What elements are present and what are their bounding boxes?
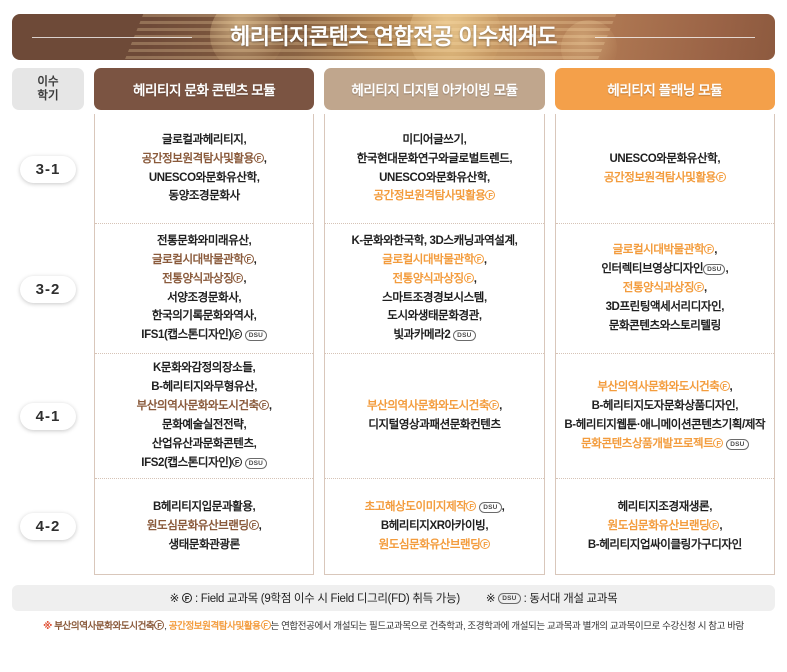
module-body-3: UNESCO와문화유산학,공간정보원격탐사및활용F글로컬시대박물관학F,인터렉티…	[555, 114, 775, 575]
course-name: UNESCO와문화유산학,	[609, 153, 720, 165]
course-name: ,	[704, 282, 707, 294]
footnote-rest: 는 연합전공에서 개설되는 필드교과목으로 건축학과, 조경학과에 개설되는 교…	[271, 621, 744, 632]
course-name: B-헤리티지도자문화상품디자인,	[592, 400, 738, 412]
course-name: ,	[499, 400, 502, 412]
footnote-field-mark-2: F	[261, 620, 271, 630]
course-name: 전통문화와미래유산,	[157, 235, 251, 247]
course-line: 초고해상도이미지제작F DSU,	[365, 498, 505, 517]
course-line: 공간정보원격탐사및활용F	[357, 187, 513, 206]
course-name: 문화콘텐츠상품개발프로젝트	[581, 438, 713, 450]
course-name: B헤리티지XR아카이빙,	[381, 520, 488, 532]
legend-field-star: ※	[170, 591, 179, 605]
course-line: B-헤리티지와무형유산,	[137, 378, 272, 397]
semester-column: 이수 학기 3-13-24-14-2	[12, 68, 84, 574]
course-name: 글로컬시대박물관학	[382, 254, 474, 266]
course-name: 원도심문화유산브랜딩	[147, 520, 249, 532]
course-line: 헤리티지조경재생론,	[588, 498, 742, 517]
semester-column-header: 이수 학기	[12, 68, 84, 110]
course-cell: 글로컬시대박물관학F,인터렉티브영상디자인DSU,전통양식과상징F,3D프린팅액…	[556, 224, 774, 354]
course-line: B-헤리티지도자문화상품디자인,	[564, 397, 765, 416]
course-cell: B헤리티지입문과활용,원도심문화유산브랜딩F,생태문화관광론	[95, 479, 313, 574]
course-line: 글로컬과헤리티지,	[142, 131, 267, 150]
footnote-star: ※	[43, 621, 52, 632]
course-name: B-헤리티지와무형유산,	[151, 381, 257, 393]
course-name: 인터렉티브영상디자인	[601, 263, 703, 275]
field-mark-icon: F	[480, 539, 490, 549]
course-line: B헤리티지XR아카이빙,	[365, 517, 505, 536]
module-column-2: 헤리티지 디지털 아카이빙 모듈 미디어글쓰기,한국현대문화연구와글로벌트렌드,…	[324, 68, 544, 575]
course-line: 원도심문화유산브랜딩F	[365, 536, 505, 555]
course-line: 서양조경문화사,	[141, 289, 267, 308]
course-name: 산업유산과문화콘텐츠,	[152, 438, 257, 450]
course-name: ,	[264, 153, 267, 165]
course-line: 글로컬시대박물관학F,	[601, 241, 728, 260]
course-name: UNESCO와문화유산학,	[149, 172, 260, 184]
course-line: 동양조경문화사	[142, 187, 267, 206]
course-line: K-문화와한국학, 3D스캐닝과역설계,	[352, 232, 518, 251]
course-line: 글로컬시대박물관학F,	[352, 251, 518, 270]
course-name: 생태문화관광론	[169, 539, 240, 551]
semester-badge: 3-2	[20, 276, 77, 303]
course-line: 원도심문화유산브랜딩F,	[588, 517, 742, 536]
field-mark-icon: F	[233, 273, 243, 283]
course-cell: 글로컬과헤리티지,공간정보원격탐사및활용F,UNESCO와문화유산학,동양조경문…	[95, 114, 313, 224]
field-mark-icon: F	[489, 400, 499, 410]
course-line: UNESCO와문화유산학,	[142, 169, 267, 188]
footnote-field-mark-1: F	[154, 620, 164, 630]
course-name: 문화예술실전전략,	[162, 419, 246, 431]
semester-badge: 4-1	[20, 403, 77, 430]
course-line: B-헤리티지웹툰·애니메이션콘텐츠기획/제작	[564, 416, 765, 435]
course-name: 동양조경문화사	[169, 190, 240, 202]
course-line: B헤리티지입문과활용,	[147, 498, 262, 517]
semester-header-line1: 이수	[37, 75, 58, 89]
field-mark-icon: F	[485, 190, 495, 200]
course-line: 전통문화와미래유산,	[141, 232, 267, 251]
field-mark-icon: F	[244, 254, 254, 264]
module-column-3: 헤리티지 플래닝 모듈 UNESCO와문화유산학,공간정보원격탐사및활용F글로컬…	[555, 68, 775, 575]
field-mark-icon: F	[232, 457, 242, 467]
course-name: B헤리티지입문과활용,	[153, 501, 255, 513]
field-mark-icon: F	[474, 254, 484, 264]
semester-badge: 4-2	[20, 513, 77, 540]
course-name: 부산의역사문화와도시건축	[367, 400, 489, 412]
footnote: ※ 부산의역사문화와도시건축F, 공간정보원격탐사및활용F는 연합전공에서 개설…	[10, 620, 777, 633]
course-name: B-헤리티지웹툰·애니메이션콘텐츠기획/제작	[564, 419, 765, 431]
course-name: K문화와감정의장소들,	[153, 362, 255, 374]
course-cell: 부산의역사문화와도시건축F,디지털영상과패션문화컨텐츠	[325, 354, 543, 479]
course-name: IFS2(캡스톤디자인)	[141, 457, 232, 469]
course-line: 미디어글쓰기,	[357, 131, 513, 150]
course-list: 헤리티지조경재생론,원도심문화유산브랜딩F,B-헤리티지업싸이클링가구디자인	[588, 498, 742, 555]
course-name: 도시와생태문화경관,	[387, 310, 481, 322]
field-mark-icon: F	[249, 520, 259, 530]
course-line: 3D프린팅액세서리디자인,	[601, 298, 728, 317]
course-line: IFS1(캡스톤디자인)F DSU	[141, 326, 267, 345]
course-line: 빛과카메라2 DSU	[352, 326, 518, 345]
field-mark-icon: F	[716, 172, 726, 182]
course-line: 글로컬시대박물관학F,	[141, 251, 267, 270]
course-name: K-문화와한국학, 3D스캐닝과역설계,	[352, 235, 518, 247]
course-line: 공간정보원격탐사및활용F	[604, 169, 726, 188]
course-name: 글로컬시대박물관학	[152, 254, 244, 266]
course-line: 원도심문화유산브랜딩F,	[147, 517, 262, 536]
semester-header-line2: 학기	[37, 89, 58, 103]
course-list: K문화와감정의장소들,B-헤리티지와무형유산,부산의역사문화와도시건축F,문화예…	[137, 359, 272, 473]
semester-cell: 4-1	[12, 354, 84, 479]
course-name: 원도심문화유산브랜딩	[379, 539, 481, 551]
course-line: B-헤리티지업싸이클링가구디자인	[588, 536, 742, 555]
course-list: 부산의역사문화와도시건축F,B-헤리티지도자문화상품디자인,B-헤리티지웹툰·애…	[564, 378, 765, 454]
footnote-course-1: 부산의역사문화와도시건축	[54, 621, 154, 632]
course-name: 문화콘텐츠와스토리텔링	[609, 320, 721, 332]
course-name: IFS1(캡스톤디자인)	[141, 329, 232, 341]
field-mark-icon: F	[694, 282, 704, 292]
course-name: ,	[474, 273, 477, 285]
banner: 헤리티지콘텐츠 연합전공 이수체계도	[12, 14, 775, 60]
module-body-1: 글로컬과헤리티지,공간정보원격탐사및활용F,UNESCO와문화유산학,동양조경문…	[94, 114, 314, 575]
module-column-1: 헤리티지 문화 콘텐츠 모듈 글로컬과헤리티지,공간정보원격탐사및활용F,UNE…	[94, 68, 314, 575]
course-name: 한국현대문화연구와글로벌트렌드,	[357, 153, 513, 165]
course-name: 전통양식과상징	[162, 273, 233, 285]
module-header-2: 헤리티지 디지털 아카이빙 모듈	[324, 68, 544, 110]
course-name: 서양조경문화사,	[167, 292, 241, 304]
course-line: 전통양식과상징F,	[352, 270, 518, 289]
course-line: IFS2(캡스톤디자인)F DSU	[137, 454, 272, 473]
course-line: 도시와생태문화경관,	[352, 307, 518, 326]
legend-dsu-text: : 동서대 개설 교과목	[524, 590, 618, 606]
course-name: ,	[484, 254, 487, 266]
course-line: 부산의역사문화와도시건축F,	[137, 397, 272, 416]
module-body-2: 미디어글쓰기,한국현대문화연구와글로벌트렌드,UNESCO와문화유산학,공간정보…	[324, 114, 544, 575]
course-line: 한국의기록문화와역사,	[141, 307, 267, 326]
field-mark-icon: F	[709, 520, 719, 530]
course-line: 공간정보원격탐사및활용F,	[142, 150, 267, 169]
course-line: 한국현대문화연구와글로벌트렌드,	[357, 150, 513, 169]
course-line: UNESCO와문화유산학,	[604, 150, 726, 169]
course-name: ,	[502, 501, 505, 513]
course-line: 문화콘텐츠와스토리텔링	[601, 317, 728, 336]
course-name: ,	[243, 273, 246, 285]
course-name: 부산의역사문화와도시건축	[137, 400, 259, 412]
field-mark-icon: F	[254, 153, 264, 163]
course-line: 전통양식과상징F,	[141, 270, 267, 289]
course-name: 헤리티지조경재생론,	[618, 501, 712, 513]
course-cell: 부산의역사문화와도시건축F,B-헤리티지도자문화상품디자인,B-헤리티지웹툰·애…	[556, 354, 774, 479]
footnote-course-2: 공간정보원격탐사및활용	[169, 621, 261, 632]
course-list: 미디어글쓰기,한국현대문화연구와글로벌트렌드,UNESCO와문화유산학,공간정보…	[357, 131, 513, 207]
dsu-badge-icon: DSU	[498, 593, 520, 604]
course-line: 부산의역사문화와도시건축F,	[367, 397, 502, 416]
course-list: UNESCO와문화유산학,공간정보원격탐사및활용F	[604, 150, 726, 188]
course-cell: 초고해상도이미지제작F DSU,B헤리티지XR아카이빙,원도심문화유산브랜딩F	[325, 479, 543, 574]
field-mark-icon: F	[464, 273, 474, 283]
field-mark-icon: F	[182, 593, 192, 603]
course-name: ,	[719, 520, 722, 532]
legend-bar: ※ F : Field 교과목 (9학점 이수 시 Field 디그리(FD) …	[12, 585, 775, 611]
course-line: 인터렉티브영상디자인DSU,	[601, 260, 728, 279]
semester-cell: 4-2	[12, 479, 84, 574]
semester-cell: 3-1	[12, 114, 84, 224]
course-line: 스마트조경경보시스템,	[352, 289, 518, 308]
course-name: 미디어글쓰기,	[403, 134, 467, 146]
course-name: ,	[730, 381, 733, 393]
course-list: K-문화와한국학, 3D스캐닝과역설계,글로컬시대박물관학F,전통양식과상징F,…	[352, 232, 518, 346]
course-cell: UNESCO와문화유산학,공간정보원격탐사및활용F	[556, 114, 774, 224]
dsu-badge-icon: DSU	[245, 330, 267, 341]
course-name: ,	[725, 263, 728, 275]
module-header-3: 헤리티지 플래닝 모듈	[555, 68, 775, 110]
course-name: ,	[259, 520, 262, 532]
course-line: 부산의역사문화와도시건축F,	[564, 378, 765, 397]
course-name: B-헤리티지업싸이클링가구디자인	[588, 539, 742, 551]
course-name: 한국의기록문화와역사,	[152, 310, 257, 322]
course-list: 초고해상도이미지제작F DSU,B헤리티지XR아카이빙,원도심문화유산브랜딩F	[365, 498, 505, 555]
course-name: 전통양식과상징	[623, 282, 694, 294]
legend-dsu-star: ※	[486, 591, 495, 605]
curriculum-grid: 이수 학기 3-13-24-14-2 헤리티지 문화 콘텐츠 모듈 글로컬과헤리…	[12, 68, 775, 575]
course-line: 문화콘텐츠상품개발프로젝트F DSU	[564, 435, 765, 454]
course-cell: K-문화와한국학, 3D스캐닝과역설계,글로컬시대박물관학F,전통양식과상징F,…	[325, 224, 543, 354]
module-header-1: 헤리티지 문화 콘텐츠 모듈	[94, 68, 314, 110]
course-name: ,	[269, 400, 272, 412]
course-name: 원도심문화유산브랜딩	[608, 520, 710, 532]
field-mark-icon: F	[713, 438, 723, 448]
dsu-badge-icon: DSU	[703, 264, 725, 275]
dsu-badge-icon: DSU	[479, 502, 501, 513]
course-name: 3D프린팅액세서리디자인,	[606, 301, 725, 313]
semester-badge: 3-1	[20, 156, 77, 183]
course-name: 공간정보원격탐사및활용	[142, 153, 254, 165]
course-line: 문화예술실전전략,	[137, 416, 272, 435]
dsu-badge-icon: DSU	[726, 439, 748, 450]
legend-field-item: ※ F : Field 교과목 (9학점 이수 시 Field 디그리(FD) …	[170, 590, 460, 606]
course-name: 부산의역사문화와도시건축	[597, 381, 719, 393]
course-line: 디지털영상과패션문화컨텐츠	[367, 416, 502, 435]
field-mark-icon: F	[259, 400, 269, 410]
course-name: 글로컬과헤리티지,	[162, 134, 246, 146]
legend-dsu-item: ※ DSU : 동서대 개설 교과목	[486, 590, 618, 606]
course-line: UNESCO와문화유산학,	[357, 169, 513, 188]
field-mark-icon: F	[720, 381, 730, 391]
page-title: 헤리티지콘텐츠 연합전공 이수체계도	[12, 14, 775, 60]
course-name: 디지털영상과패션문화컨텐츠	[368, 419, 500, 431]
course-name: 공간정보원격탐사및활용	[373, 190, 485, 202]
banner-background: 헤리티지콘텐츠 연합전공 이수체계도	[12, 14, 775, 60]
dsu-badge-icon: DSU	[453, 330, 475, 341]
course-list: 글로컬시대박물관학F,인터렉티브영상디자인DSU,전통양식과상징F,3D프린팅액…	[601, 241, 728, 336]
course-name: 전통양식과상징	[392, 273, 463, 285]
field-mark-icon: F	[704, 244, 714, 254]
course-cell: K문화와감정의장소들,B-헤리티지와무형유산,부산의역사문화와도시건축F,문화예…	[95, 354, 313, 479]
course-name: 스마트조경경보시스템,	[382, 292, 487, 304]
course-name: 공간정보원격탐사및활용	[604, 172, 716, 184]
course-name: 글로컬시대박물관학	[613, 244, 705, 256]
course-cell: 전통문화와미래유산,글로컬시대박물관학F,전통양식과상징F,서양조경문화사,한국…	[95, 224, 313, 354]
course-list: 부산의역사문화와도시건축F,디지털영상과패션문화컨텐츠	[367, 397, 502, 435]
course-line: K문화와감정의장소들,	[137, 359, 272, 378]
field-mark-icon: F	[232, 329, 242, 339]
course-name: UNESCO와문화유산학,	[379, 172, 490, 184]
legend-field-text: : Field 교과목 (9학점 이수 시 Field 디그리(FD) 취득 가…	[195, 590, 460, 606]
course-name: ,	[714, 244, 717, 256]
course-list: 글로컬과헤리티지,공간정보원격탐사및활용F,UNESCO와문화유산학,동양조경문…	[142, 131, 267, 207]
course-name: 초고해상도이미지제작	[365, 501, 467, 513]
course-name: 빛과카메라2	[393, 329, 453, 341]
course-line: 산업유산과문화콘텐츠,	[137, 435, 272, 454]
dsu-badge-icon: DSU	[245, 458, 267, 469]
field-mark-icon: F	[466, 501, 476, 511]
course-cell: 헤리티지조경재생론,원도심문화유산브랜딩F,B-헤리티지업싸이클링가구디자인	[556, 479, 774, 574]
course-list: B헤리티지입문과활용,원도심문화유산브랜딩F,생태문화관광론	[147, 498, 262, 555]
course-line: 전통양식과상징F,	[601, 279, 728, 298]
course-cell: 미디어글쓰기,한국현대문화연구와글로벌트렌드,UNESCO와문화유산학,공간정보…	[325, 114, 543, 224]
semester-cell: 3-2	[12, 224, 84, 354]
course-list: 전통문화와미래유산,글로컬시대박물관학F,전통양식과상징F,서양조경문화사,한국…	[141, 232, 267, 346]
course-line: 생태문화관광론	[147, 536, 262, 555]
course-name: ,	[254, 254, 257, 266]
